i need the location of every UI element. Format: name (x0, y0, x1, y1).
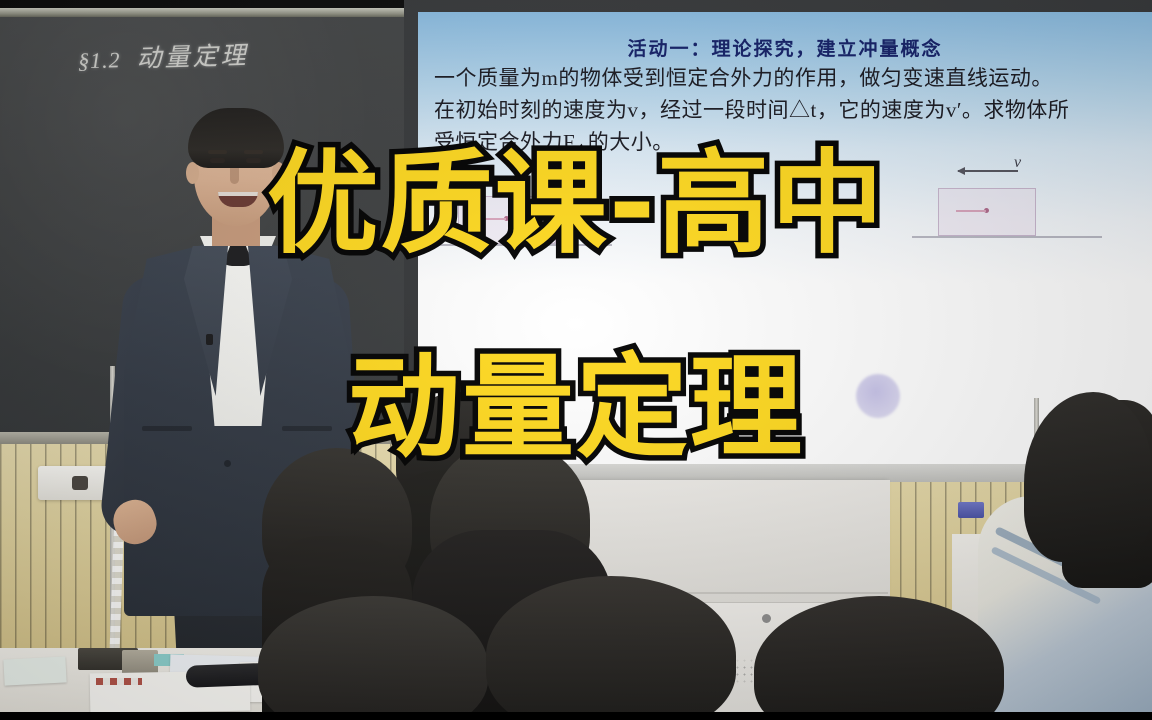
blue-device-box (958, 502, 984, 518)
video-caption-line-1: 优质课-高中 (0, 148, 1152, 260)
blackboard-top-rail (0, 8, 420, 17)
video-frame: §1.2动量定理 活动一：理论探究，建立冲量概念 一个质量为m的物体受到恒定合外… (0, 0, 1152, 720)
blackboard-chalk-writing: §1.2动量定理 (78, 36, 249, 77)
letterbox-bottom (0, 712, 1152, 720)
lab-stand-clamp-left (72, 476, 88, 490)
slide-title: 活动一：理论探究，建立冲量概念 (418, 34, 1152, 61)
podium-button (762, 614, 771, 623)
slide-body-line-1: 一个质量为m的物体受到恒定合外力的作用，做匀变速直线运动。 (434, 62, 1138, 94)
blackboard-section-number: §1.2 (78, 47, 121, 73)
teacher-lapel-microphone (206, 334, 213, 345)
slide-body-line-2: 在初始时刻的速度为v，经过一段时间△t，它的速度为v′。求物体所 (434, 94, 1138, 126)
video-caption-line-2: 动量定理 (0, 352, 1152, 464)
desk-paper-1 (3, 656, 66, 685)
desk-striped-item (96, 678, 142, 685)
blackboard-lesson-title: 动量定理 (136, 43, 249, 73)
